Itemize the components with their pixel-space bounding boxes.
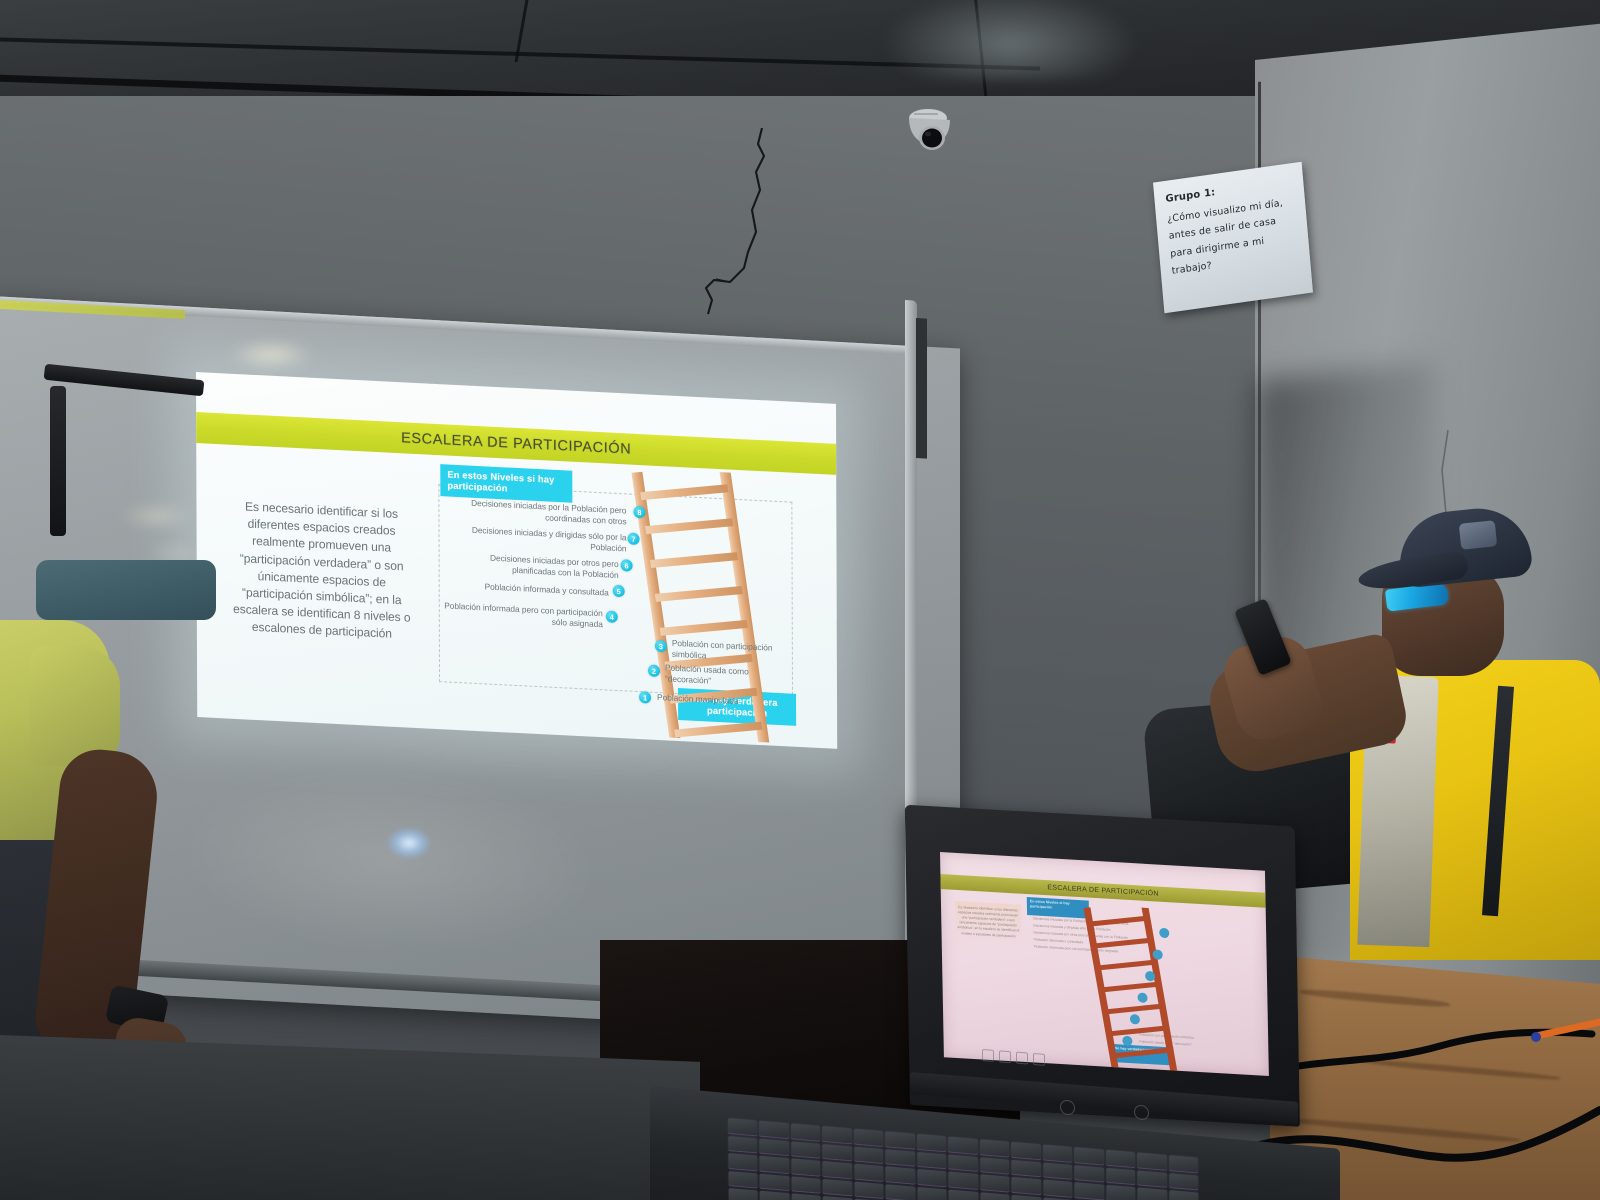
key[interactable] [917, 1169, 947, 1187]
laptop-mini-slide: ESCALERA DE PARTICIPACIÓN Es necesario i… [940, 852, 1269, 1076]
key[interactable] [791, 1176, 821, 1194]
indicator-icon [999, 1050, 1011, 1063]
key[interactable] [980, 1157, 1010, 1175]
level-bullet-6: 6 [621, 559, 633, 572]
scene-root: Grupo 1: ¿Cómo visualizo mi día, antes d… [0, 0, 1600, 1200]
projector-hotspot [388, 828, 430, 858]
key[interactable] [948, 1154, 978, 1172]
key[interactable] [791, 1159, 821, 1177]
key[interactable] [1011, 1142, 1041, 1160]
key[interactable] [1011, 1177, 1041, 1195]
cap-logo-icon [1459, 520, 1498, 550]
key[interactable] [854, 1146, 884, 1164]
key[interactable] [886, 1166, 916, 1184]
key[interactable] [823, 1144, 853, 1162]
key[interactable] [1043, 1144, 1073, 1162]
mini-slide-body-text: Es necesario identificar si los diferent… [955, 901, 1022, 944]
wall-note-grupo-1: Grupo 1: ¿Cómo visualizo mi día, antes d… [1153, 162, 1313, 314]
key[interactable] [759, 1121, 789, 1139]
key[interactable] [760, 1173, 790, 1191]
indicator-icon [982, 1049, 994, 1062]
key[interactable] [980, 1139, 1010, 1157]
indicator-icon [1033, 1053, 1045, 1066]
key[interactable] [728, 1118, 758, 1136]
level-bullet-7: 7 [627, 532, 639, 545]
key[interactable] [791, 1123, 821, 1141]
ceiling-light-glow [880, 0, 1140, 80]
key[interactable] [1169, 1155, 1199, 1173]
whiteboard-frame-accent [916, 318, 927, 459]
key[interactable] [980, 1192, 1010, 1200]
power-button-icon[interactable] [1060, 1099, 1075, 1115]
key[interactable] [1074, 1147, 1104, 1165]
key[interactable] [1137, 1188, 1167, 1200]
key[interactable] [1074, 1182, 1104, 1200]
key[interactable] [854, 1164, 884, 1182]
key[interactable] [729, 1188, 759, 1200]
key[interactable] [823, 1179, 853, 1197]
speaker-icon [1134, 1104, 1149, 1120]
projected-slide: ESCALERA DE PARTICIPACIÓN Es necesario i… [196, 372, 837, 749]
key[interactable] [760, 1191, 790, 1200]
key[interactable] [728, 1153, 758, 1171]
key[interactable] [949, 1172, 979, 1190]
chair-seat [36, 560, 216, 620]
person-right [1340, 500, 1600, 1000]
mini-ladder-icon [1069, 903, 1212, 1076]
key[interactable] [760, 1138, 790, 1156]
key[interactable] [885, 1131, 915, 1149]
key[interactable] [854, 1181, 884, 1199]
key[interactable] [1074, 1165, 1104, 1183]
key[interactable] [791, 1141, 821, 1159]
key[interactable] [1137, 1152, 1167, 1170]
key[interactable] [1043, 1180, 1073, 1198]
indicator-icon [1016, 1052, 1028, 1065]
level-bullet-5: 5 [613, 585, 625, 598]
key[interactable] [917, 1151, 947, 1169]
key[interactable] [1137, 1170, 1167, 1188]
key[interactable] [823, 1196, 853, 1200]
slide-body-text: Es necesario identificar si los diferent… [226, 498, 416, 645]
key[interactable] [1106, 1150, 1136, 1168]
floor [0, 1035, 700, 1200]
key[interactable] [792, 1194, 822, 1200]
key[interactable] [917, 1134, 947, 1152]
wall-note-text: Grupo 1: ¿Cómo visualizo mi día, antes d… [1153, 162, 1310, 282]
key[interactable] [1106, 1167, 1136, 1185]
key[interactable] [1011, 1159, 1041, 1177]
key[interactable] [1043, 1162, 1073, 1180]
security-camera-icon [902, 105, 958, 159]
key[interactable] [1169, 1173, 1199, 1191]
level-bullet-3: 3 [655, 640, 667, 653]
person-left-sleeve [30, 646, 120, 766]
key[interactable] [885, 1149, 915, 1167]
level-bullet-1: 1 [639, 691, 651, 704]
level-bullet-2: 2 [648, 665, 660, 678]
key[interactable] [949, 1189, 979, 1200]
key[interactable] [822, 1126, 852, 1144]
key[interactable] [1169, 1190, 1199, 1200]
slide-ladder-panel: En estos Niveles si hay participación No… [428, 462, 829, 747]
key[interactable] [854, 1129, 884, 1147]
key[interactable] [823, 1161, 853, 1179]
laptop-screen[interactable]: ESCALERA DE PARTICIPACIÓN Es necesario i… [940, 852, 1269, 1076]
key[interactable] [948, 1137, 978, 1155]
laptop[interactable]: ESCALERA DE PARTICIPACIÓN Es necesario i… [610, 800, 1330, 1200]
key[interactable] [886, 1184, 916, 1200]
key[interactable] [728, 1136, 758, 1154]
key[interactable] [760, 1156, 790, 1174]
level-bullet-8: 8 [633, 506, 645, 519]
key[interactable] [1012, 1195, 1042, 1200]
whiteboard-sheen [180, 760, 600, 963]
chair-post [50, 386, 66, 536]
key[interactable] [728, 1171, 758, 1189]
slide-escalera-participacion: ESCALERA DE PARTICIPACIÓN Es necesario i… [196, 372, 837, 749]
key[interactable] [917, 1187, 947, 1200]
key[interactable] [980, 1174, 1010, 1192]
key[interactable] [1106, 1185, 1136, 1200]
level-bullet-4: 4 [606, 610, 618, 623]
